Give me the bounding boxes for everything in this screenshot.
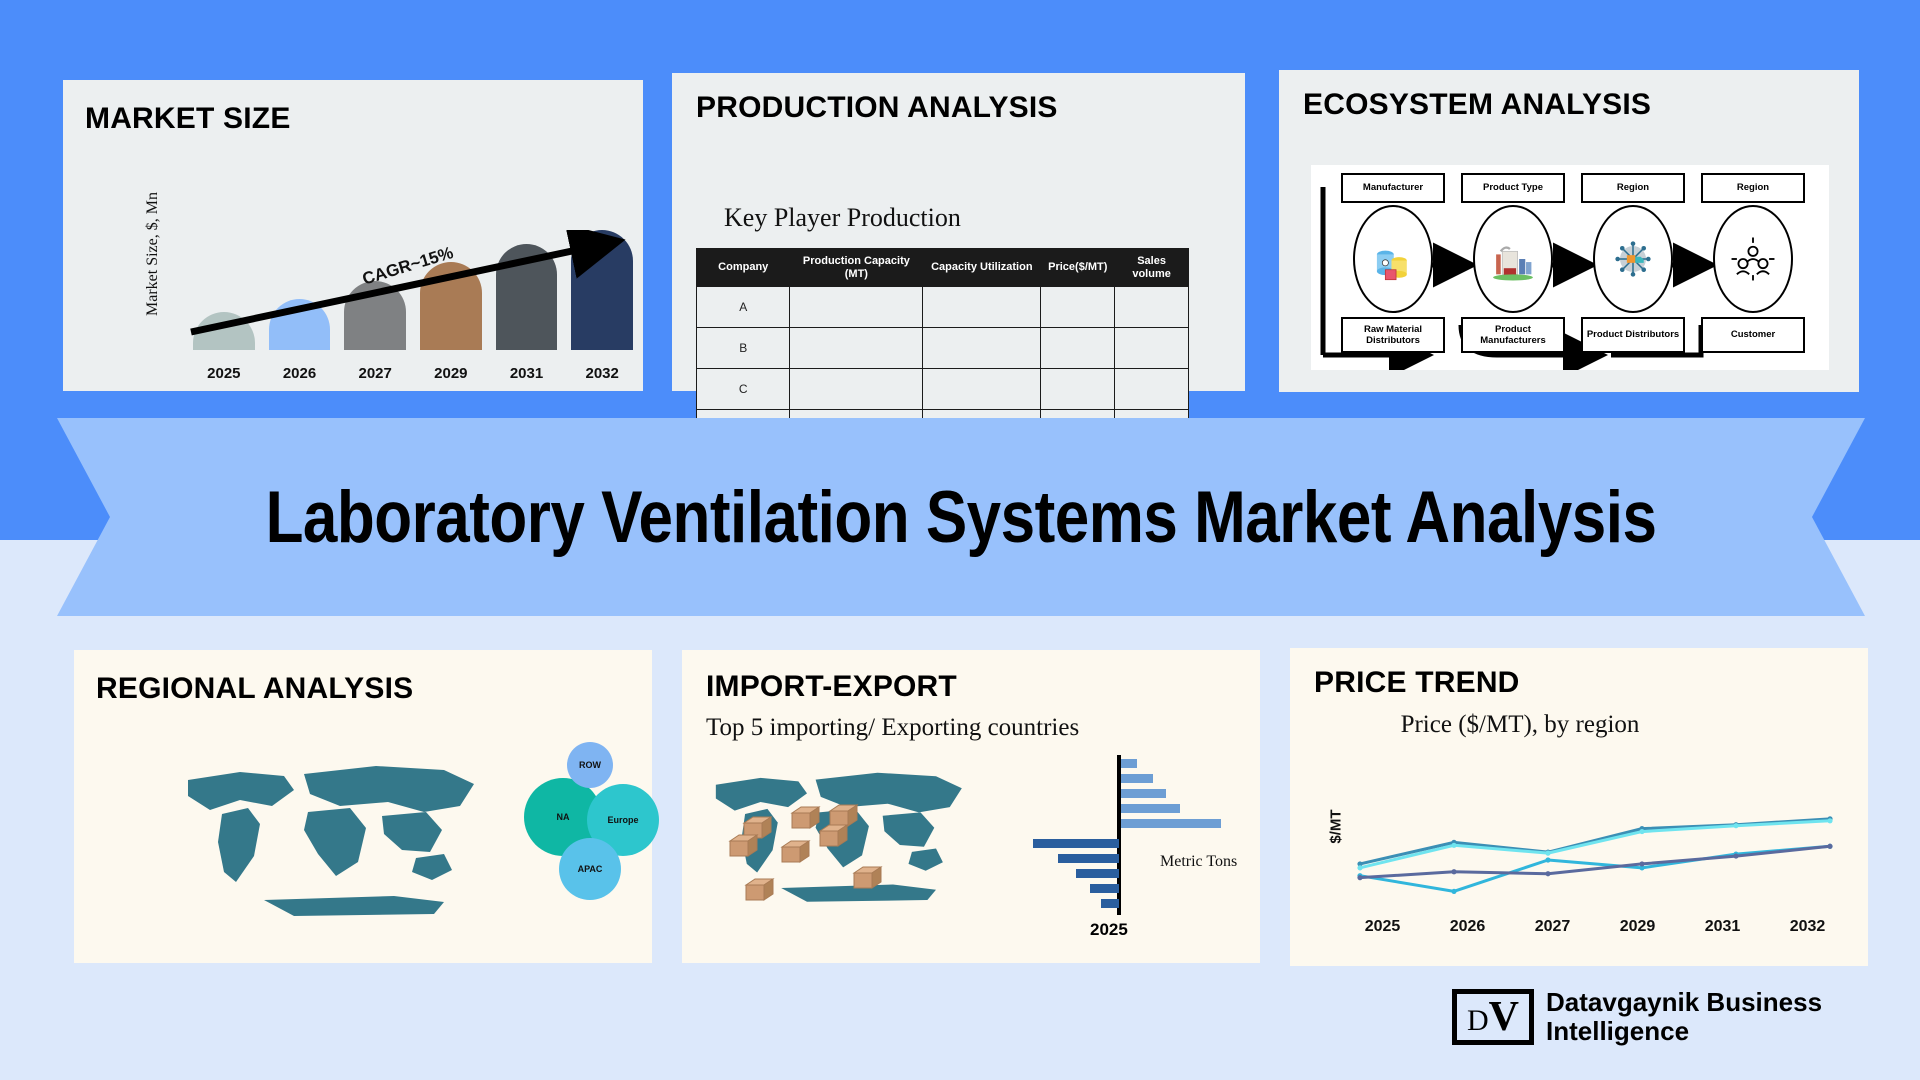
market-size-year-label: 2032 [571,365,633,382]
price-trend-point [1545,871,1550,876]
ecosystem-bottom-box: Product Manufacturers [1461,317,1565,353]
tornado-bar-export [1076,869,1119,878]
barrels-icon [1353,205,1433,313]
import-export-title: IMPORT-EXPORT [706,670,957,704]
market-size-bar [193,312,255,350]
region-bubble-chart: NAEuropeAPACROW [529,740,649,940]
market-size-bar [269,299,331,350]
price-trend-point [1357,865,1362,870]
import-export-subtitle: Top 5 importing/ Exporting countries [706,714,1079,742]
ecosystem-top-box: Region [1581,173,1685,203]
ecosystem-bottom-box: Customer [1701,317,1805,353]
market-size-y-axis-label: Market Size, $, Mn [144,154,162,354]
table-header-row: CompanyProduction Capacity (MT)Capacity … [697,249,1189,287]
table-cell [1041,369,1115,410]
price-trend-point [1545,857,1550,862]
logo-company-name: Datavgaynik Business Intelligence [1546,988,1876,1046]
table-column-header: Sales volume [1115,249,1189,287]
distribution-network-icon [1593,205,1673,313]
price-trend-year-axis: 202520262027202920312032 [1340,918,1850,936]
market-size-year-label: 2025 [193,365,255,382]
price-trend-point [1451,869,1456,874]
import-export-tornado-chart: Metric Tons 2025 [1032,755,1242,940]
table-column-header: Production Capacity (MT) [790,249,923,287]
price-trend-point [1733,853,1738,858]
production-subtitle: Key Player Production [724,203,961,233]
table-cell [923,369,1041,410]
table-cell [1115,369,1189,410]
price-trend-point [1451,889,1456,894]
main-title-banner: Laboratory Ventilation Systems Market An… [57,418,1865,616]
table-row: B [697,328,1189,369]
import-export-panel: IMPORT-EXPORT Top 5 importing/ Exporting… [682,650,1260,963]
price-trend-panel: PRICE TREND Price ($/MT), by region $/MT… [1290,648,1868,966]
price-trend-line [1360,821,1830,868]
price-trend-year-label: 2029 [1595,918,1680,936]
tornado-bar-export [1101,899,1119,908]
ecosystem-analysis-panel: ECOSYSTEM ANALYSIS ManufacturerProduct T… [1279,70,1859,392]
price-trend-year-label: 2027 [1510,918,1595,936]
logo-letter-v: V [1489,994,1519,1040]
market-size-panel: MARKET SIZE Market Size, $, Mn 202520262… [63,80,643,391]
market-size-bar [344,281,406,350]
table-cell [923,328,1041,369]
ecosystem-top-box: Region [1701,173,1805,203]
price-trend-year-label: 2032 [1765,918,1850,936]
table-cell [1115,287,1189,328]
region-bubble: ROW [567,742,613,788]
price-trend-lines [1340,803,1850,913]
price-trend-point [1357,875,1362,880]
regional-title: REGIONAL ANALYSIS [96,672,413,706]
table-cell [923,287,1041,328]
price-trend-title: PRICE TREND [1314,666,1520,700]
tornado-bar-import [1121,819,1221,828]
price-trend-point [1827,818,1832,823]
price-trend-point [1639,829,1644,834]
table-cell [1041,328,1115,369]
ecosystem-flow-diagram: ManufacturerProduct TypeRegionRegionRaw … [1311,165,1829,370]
tornado-bar-export [1090,884,1119,893]
price-trend-year-label: 2025 [1340,918,1425,936]
market-size-year-label: 2029 [420,365,482,382]
price-trend-point [1827,844,1832,849]
ecosystem-title: ECOSYSTEM ANALYSIS [1303,88,1651,122]
market-size-bar [496,244,558,350]
production-analysis-panel: PRODUCTION ANALYSIS Key Player Productio… [672,73,1245,391]
tornado-bar-import [1121,759,1137,768]
metric-tons-label: Metric Tons [1160,853,1237,871]
table-cell [1115,328,1189,369]
price-trend-point [1733,823,1738,828]
table-column-header: Price($/MT) [1041,249,1115,287]
price-trend-subtitle: Price ($/MT), by region [1370,710,1670,740]
ecosystem-top-box: Manufacturer [1341,173,1445,203]
tornado-bar-import [1121,804,1180,813]
table-cell [790,328,923,369]
market-size-bars [193,230,633,350]
company-logo: DV Datavgaynik Business Intelligence [1452,988,1876,1046]
trade-map-icon [702,765,1012,935]
table-row: A [697,287,1189,328]
region-bubble: APAC [559,838,621,900]
price-trend-point [1639,861,1644,866]
market-size-title: MARKET SIZE [85,102,291,136]
price-trend-year-label: 2026 [1425,918,1510,936]
main-title: Laboratory Ventilation Systems Market An… [57,400,1865,634]
dv-monogram-icon: DV [1452,989,1534,1045]
regional-analysis-panel: REGIONAL ANALYSIS NAEuropeAPACROW [74,650,652,963]
table-column-header: Capacity Utilization [923,249,1041,287]
price-trend-point [1451,843,1456,848]
table-cell [790,369,923,410]
customers-icon [1713,205,1793,313]
table-row: C [697,369,1189,410]
market-size-bar [420,262,482,350]
market-size-year-label: 2031 [496,365,558,382]
ecosystem-top-box: Product Type [1461,173,1565,203]
market-size-year-label: 2026 [269,365,331,382]
table-cell: B [697,328,790,369]
table-cell: C [697,369,790,410]
table-cell: A [697,287,790,328]
tornado-bar-import [1121,774,1153,783]
market-size-year-label: 2027 [344,365,406,382]
world-map-icon [144,750,494,940]
table-cell [1041,287,1115,328]
ecosystem-bottom-box: Product Distributors [1581,317,1685,353]
market-size-bar [571,230,633,350]
table-column-header: Company [697,249,790,287]
table-cell [790,287,923,328]
price-trend-year-label: 2031 [1680,918,1765,936]
tornado-year-label: 2025 [1090,920,1128,940]
tornado-bar-export [1058,854,1119,863]
tornado-bar-export [1033,839,1119,848]
ecosystem-bottom-box: Raw Material Distributors [1341,317,1445,353]
logo-letter-d: D [1467,1004,1489,1037]
market-size-year-axis: 202520262027202920312032 [193,365,633,382]
price-trend-point [1545,851,1550,856]
factory-icon [1473,205,1553,313]
tornado-bar-import [1121,789,1166,798]
production-title: PRODUCTION ANALYSIS [696,91,1058,125]
